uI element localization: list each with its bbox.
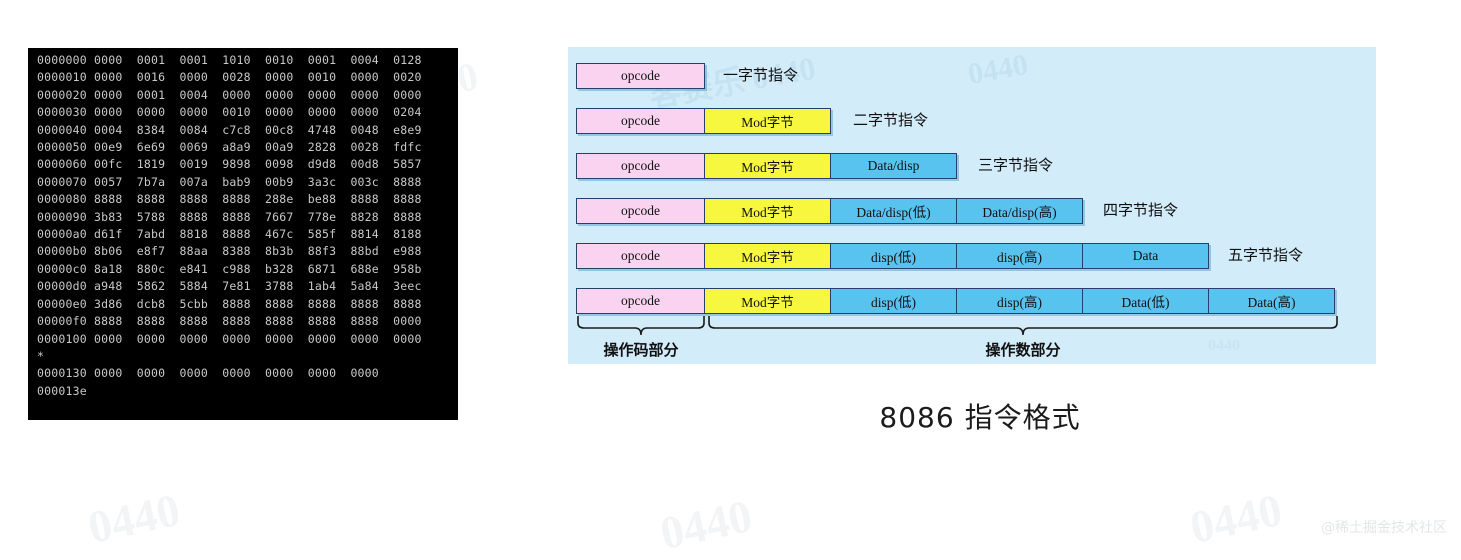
hex-dump-line: 0000100 0000 0000 0000 0000 0000 0000 00… xyxy=(28,331,458,348)
hex-dump-line: 00000e0 3d86 dcb8 5cbb 8888 8888 8888 88… xyxy=(28,296,458,313)
hex-dump-line: 0000030 0000 0000 0000 0010 0000 0000 00… xyxy=(28,104,458,121)
cell-data: Data xyxy=(1083,243,1209,269)
cell-mod-byte: Mod字节 xyxy=(705,243,831,269)
hex-dump-line: 0000010 0000 0016 0000 0028 0000 0010 00… xyxy=(28,69,458,86)
hex-dump-line: 0000000 0000 0001 0001 1010 0010 0001 00… xyxy=(28,52,458,69)
cell-opcode: opcode xyxy=(576,243,705,269)
row-label-4-byte: 四字节指令 xyxy=(1103,198,1178,224)
panel-watermark-2: 0440 xyxy=(966,48,1031,92)
operand-part-brace xyxy=(707,315,1339,337)
cell-disp-high: disp(高) xyxy=(957,243,1083,269)
hex-dump-line: 0000090 3b83 5788 8888 8888 7667 778e 88… xyxy=(28,209,458,226)
cell-mod-byte: Mod字节 xyxy=(705,108,831,134)
group-label-operand-part: 操作数部分 xyxy=(707,339,1339,360)
cell-data-low: Data(低) xyxy=(1083,288,1209,314)
format-row-6-byte: opcode Mod字节 disp(低) disp(高) Data(低) Dat… xyxy=(576,288,1335,314)
row-label-1-byte: 一字节指令 xyxy=(723,63,798,89)
hex-dump-terminal: 0000000 0000 0001 0001 1010 0010 0001 00… xyxy=(28,48,458,420)
cell-disp-low: disp(低) xyxy=(831,243,957,269)
cell-opcode: opcode xyxy=(576,153,705,179)
hex-dump-line: 0000020 0000 0001 0004 0000 0000 0000 00… xyxy=(28,87,458,104)
cell-data-high: Data(高) xyxy=(1209,288,1335,314)
format-row-4-byte: opcode Mod字节 Data/disp(低) Data/disp(高) xyxy=(576,198,1083,224)
hex-dump-line: 00000a0 d61f 7abd 8818 8888 467c 585f 88… xyxy=(28,226,458,243)
cell-data-disp: Data/disp xyxy=(831,153,957,179)
hex-dump-line: 0000060 00fc 1819 0019 9898 0098 d9d8 00… xyxy=(28,156,458,173)
diagram-caption: 8086 指令格式 xyxy=(700,396,1260,436)
row-label-5-byte: 五字节指令 xyxy=(1228,243,1303,269)
hex-dump-repeat-marker: * xyxy=(28,348,458,365)
hex-dump-line: 0000040 0004 8384 0084 c7c8 00c8 4748 00… xyxy=(28,122,458,139)
page-watermark-1: 0440 xyxy=(83,483,184,554)
format-row-1-byte: opcode xyxy=(576,63,705,89)
cell-mod-byte: Mod字节 xyxy=(705,153,831,179)
row-label-3-byte: 三字节指令 xyxy=(978,153,1053,179)
cell-mod-byte: Mod字节 xyxy=(705,288,831,314)
site-credit: @稀土掘金技术社区 xyxy=(1321,517,1447,537)
hex-dump-line: 00000b0 8b06 e8f7 88aa 8388 8b3b 88f3 88… xyxy=(28,243,458,260)
cell-opcode: opcode xyxy=(576,108,705,134)
cell-data-disp-high: Data/disp(高) xyxy=(957,198,1083,224)
opcode-part-brace xyxy=(576,315,706,337)
hex-dump-line: 0000070 0057 7b7a 007a bab9 00b9 3a3c 00… xyxy=(28,174,458,191)
cell-data-disp-low: Data/disp(低) xyxy=(831,198,957,224)
format-row-5-byte: opcode Mod字节 disp(低) disp(高) Data xyxy=(576,243,1209,269)
hex-dump-line: 0000080 8888 8888 8888 8888 288e be88 88… xyxy=(28,191,458,208)
group-label-opcode-part: 操作码部分 xyxy=(576,339,706,360)
format-row-2-byte: opcode Mod字节 xyxy=(576,108,831,134)
hex-dump-line: 00000c0 8a18 880c e841 c988 b328 6871 68… xyxy=(28,261,458,278)
cell-opcode: opcode xyxy=(576,63,705,89)
page-watermark-2: 0440 xyxy=(655,489,756,560)
cell-opcode: opcode xyxy=(576,288,705,314)
cell-disp-low: disp(低) xyxy=(831,288,957,314)
cell-opcode: opcode xyxy=(576,198,705,224)
instruction-format-diagram: 客赛乐 0440 0440 0440 opcode 一字节指令 opcode M… xyxy=(568,47,1376,364)
format-row-3-byte: opcode Mod字节 Data/disp xyxy=(576,153,957,179)
hex-dump-line: 000013e xyxy=(28,383,458,400)
hex-dump-line: 00000d0 a948 5862 5884 7e81 3788 1ab4 5a… xyxy=(28,278,458,295)
cell-disp-high: disp(高) xyxy=(957,288,1083,314)
hex-dump-line: 00000f0 8888 8888 8888 8888 8888 8888 88… xyxy=(28,313,458,330)
hex-dump-line: 0000130 0000 0000 0000 0000 0000 0000 00… xyxy=(28,365,458,382)
page-watermark-3: 0440 xyxy=(1185,483,1286,554)
cell-mod-byte: Mod字节 xyxy=(705,198,831,224)
row-label-2-byte: 二字节指令 xyxy=(853,108,928,134)
hex-dump-line: 0000050 00e9 6e69 0069 a8a9 00a9 2828 00… xyxy=(28,139,458,156)
